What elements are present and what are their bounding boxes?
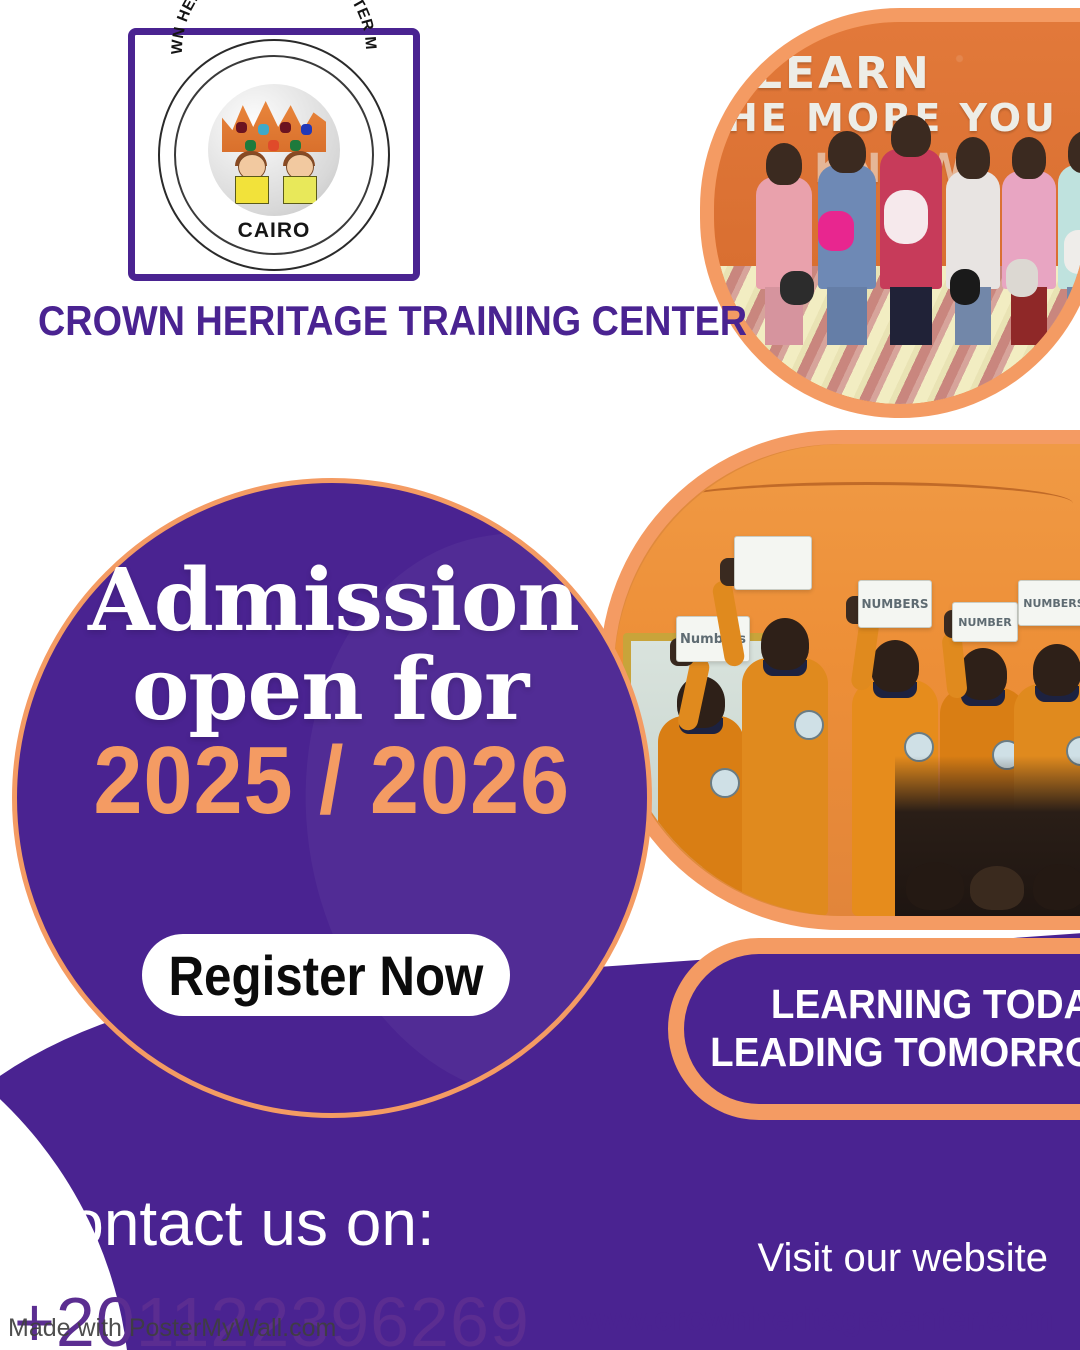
gem-6	[268, 140, 279, 151]
ceiling-wire	[661, 482, 1073, 525]
doll-boy	[232, 154, 270, 210]
tagline-line-1: LEARNING TODAY,	[710, 981, 1080, 1029]
card-blank-1	[734, 536, 812, 590]
toy-unicorn	[1064, 230, 1080, 274]
register-now-label: Register Now	[169, 943, 484, 1008]
wall-text-learn: LEARN	[754, 48, 932, 99]
website-label: Visit our website	[757, 1236, 1048, 1281]
card-numbers-2: NUMBERS	[858, 580, 932, 628]
student-1	[658, 716, 744, 916]
logo-box: CROWN HERITAGE TRAINING CENTER MAADI	[128, 28, 420, 281]
contact-label: Contact us on:	[22, 1186, 435, 1260]
toy-panda	[780, 271, 814, 305]
toy-mickey	[950, 269, 980, 305]
photo-top-scene: LEARN HE MORE YOU KNOW	[714, 22, 1080, 404]
gem-5	[245, 140, 256, 151]
brand-name: CROWN HERITAGE TRAINING CENTER	[38, 297, 614, 345]
logo-cairo-text: CAIRO	[160, 219, 388, 243]
photo-children-with-toys: LEARN HE MORE YOU KNOW	[700, 8, 1080, 418]
headline-line-2: open for	[40, 649, 640, 732]
svg-text:CROWN HERITAGE TRAINING CENTER: CROWN HERITAGE TRAINING CENTER MAADI	[160, 0, 379, 54]
register-now-button[interactable]: Register Now	[142, 934, 510, 1016]
tagline-line-2: LEADING TOMORROW.	[710, 1029, 1080, 1077]
card-number-3: NUMBER	[952, 602, 1018, 642]
headline-line-1: Admission	[40, 560, 640, 643]
logo-artwork	[208, 84, 340, 216]
headline-group: Admission open for 2025 / 2026	[40, 560, 640, 829]
gem-7	[290, 140, 301, 151]
postermywall-watermark: Made with PosterMyWall.com	[8, 1314, 336, 1343]
student-2	[742, 658, 828, 916]
gem-4	[301, 124, 312, 135]
website-url[interactable]: www.crownheritagecenter.com	[569, 1300, 1054, 1338]
card-numbers-4: NUMBERS	[1018, 580, 1080, 626]
gem-1	[236, 122, 247, 133]
toy-white-cat	[884, 190, 928, 244]
toy-grey-bear	[1006, 259, 1038, 297]
headline-years: 2025 / 2026	[40, 733, 592, 829]
photo-main-scene: Numbers NUMBERS NUMBER NUMBERS	[614, 444, 1080, 916]
gem-3	[280, 122, 291, 133]
poster-canvas: LEARN HE MORE YOU KNOW	[0, 0, 1080, 1350]
photo-classroom-numbers: Numbers NUMBERS NUMBER NUMBERS	[600, 430, 1080, 930]
logo-outer-circle: CROWN HERITAGE TRAINING CENTER MAADI	[158, 39, 390, 271]
seated-audience	[895, 756, 1080, 916]
doll-girl	[280, 154, 318, 210]
tagline-box: LEARNING TODAY, LEADING TOMORROW.	[668, 938, 1080, 1120]
gem-2	[258, 124, 269, 135]
toy-pink-bear	[818, 211, 854, 251]
